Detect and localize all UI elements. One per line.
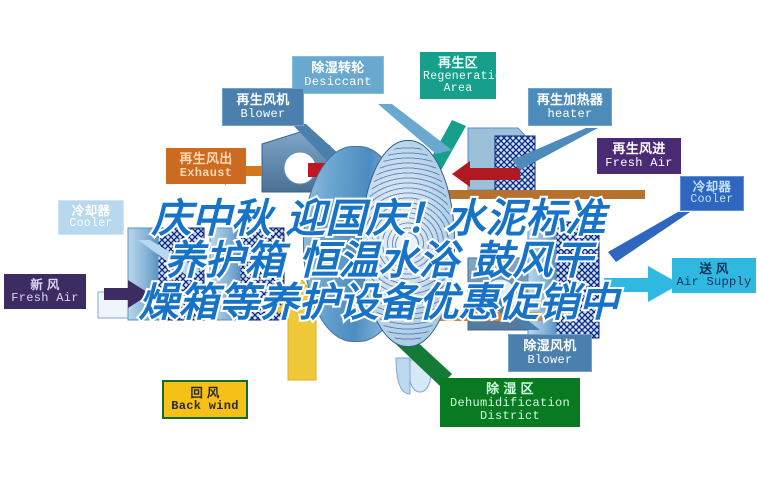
label-en: Exhaust (168, 167, 244, 180)
label-regen-heater[interactable]: 再生加热器 heater (528, 88, 612, 126)
promo-line-3: 燥箱等养护设备优惠促销中 (0, 282, 757, 324)
label-cn: 再生风出 (168, 152, 244, 167)
label-cn: 冷却器 (683, 180, 741, 194)
label-cn: 再生区 (423, 56, 493, 71)
label-regen-blower[interactable]: 再生风机 Blower (222, 88, 304, 126)
label-regeneration-area[interactable]: 再生区 Regeneration Area (420, 52, 496, 99)
label-en: heater (531, 108, 609, 121)
label-cn: 再生风机 (225, 93, 301, 108)
label-desiccant-rotor[interactable]: 除湿转轮 Desiccant (292, 56, 384, 94)
promo-line-2: 养护箱 恒温水浴 鼓风干 (0, 240, 757, 282)
label-regen-fresh-air[interactable]: 再生风进 Fresh Air (597, 138, 681, 174)
promo-overlay-text: 庆中秋 迎国庆！水泥标准 养护箱 恒温水浴 鼓风干 燥箱等养护设备优惠促销中 (0, 198, 757, 324)
diagram-canvas: XT 除湿转轮 Desiccant 再生风机 Blower 再生区 Regene… (0, 0, 757, 488)
label-cn: 除 湿 区 (442, 382, 578, 397)
label-back-wind[interactable]: 回 风 Back wind (162, 380, 248, 419)
label-cn: 除湿转轮 (295, 61, 381, 76)
label-en: Blower (511, 354, 589, 367)
label-dehumid-blower[interactable]: 除湿风机 Blower (508, 334, 592, 372)
label-regen-exhaust[interactable]: 再生风出 Exhaust (166, 148, 246, 184)
label-en: Regeneration Area (423, 71, 493, 95)
label-cn: 回 风 (166, 386, 244, 400)
label-cn: 除湿风机 (511, 339, 589, 354)
label-en: Fresh Air (599, 157, 679, 170)
label-en: Back wind (166, 400, 244, 413)
promo-line-1: 庆中秋 迎国庆！水泥标准 (0, 198, 757, 240)
label-en: Blower (225, 108, 301, 121)
label-en2: District (442, 410, 578, 423)
label-cn: 再生风进 (599, 142, 679, 157)
label-en: Dehumidification (442, 397, 578, 410)
label-en: Desiccant (295, 76, 381, 89)
label-dehumidification-district[interactable]: 除 湿 区 Dehumidification District (440, 378, 580, 427)
label-cn: 再生加热器 (531, 93, 609, 108)
